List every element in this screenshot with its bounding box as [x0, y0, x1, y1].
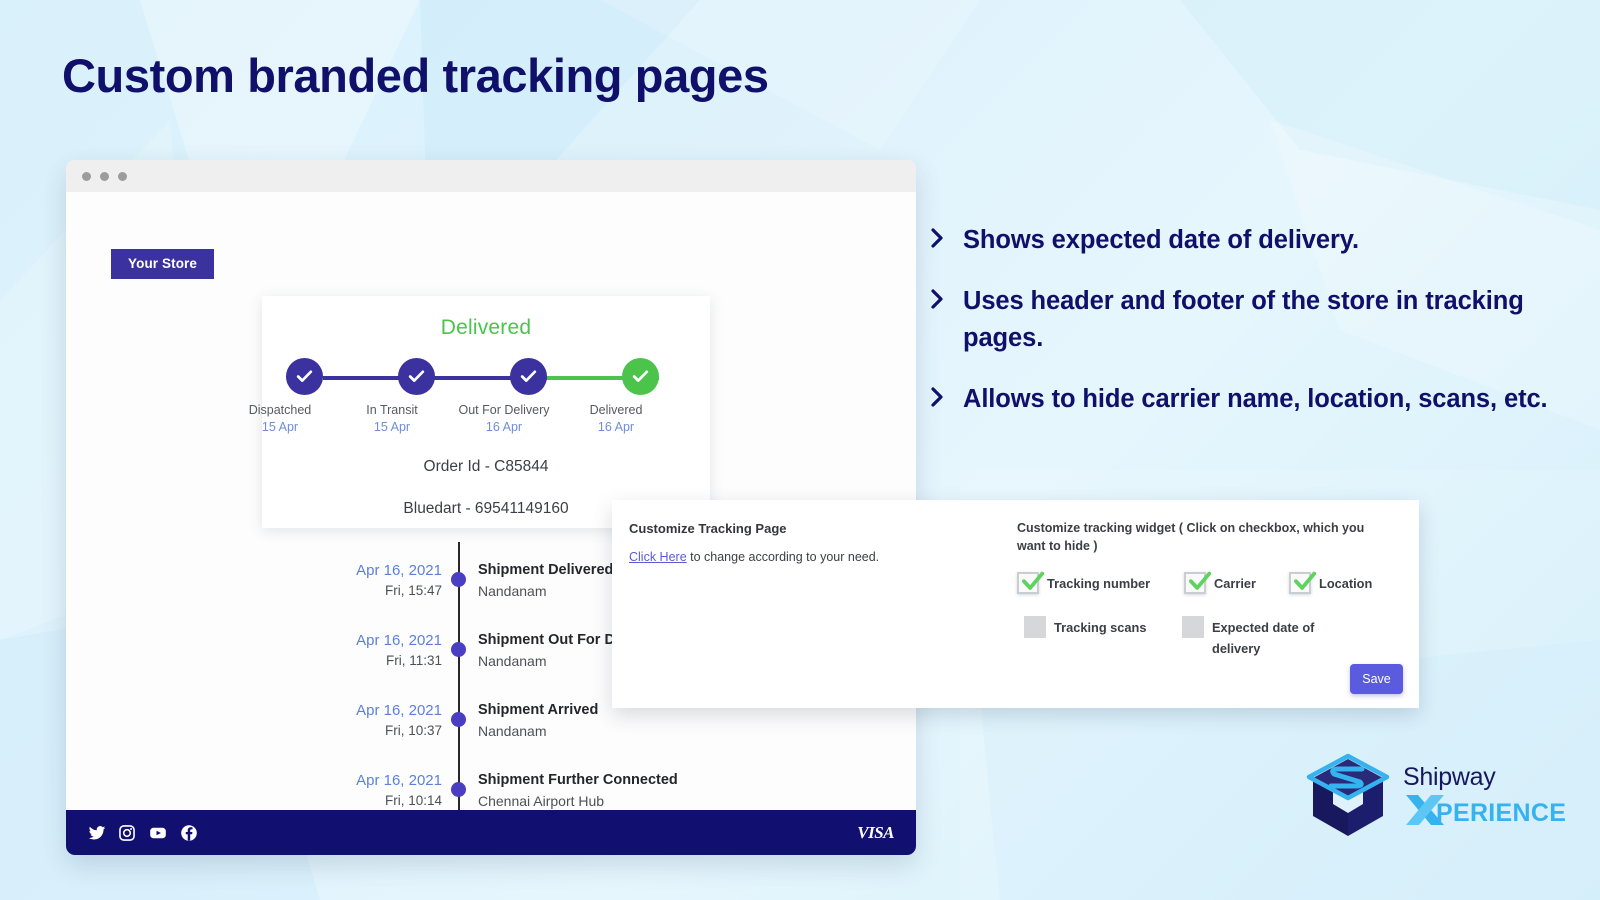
bullet-text: Shows expected date of delivery. — [963, 222, 1359, 259]
timeline-date: Apr 16, 2021 — [274, 700, 442, 721]
bullet-text: Allows to hide carrier name, location, s… — [963, 381, 1548, 418]
bullet-item: Shows expected date of delivery. — [930, 222, 1550, 259]
timeline-dot-icon — [451, 642, 466, 657]
shipway-logo: Shipway PERIENCE — [1305, 752, 1566, 845]
checkbox-box[interactable] — [1184, 572, 1206, 594]
browser-titlebar — [66, 160, 916, 192]
checkbox-box[interactable] — [1024, 616, 1046, 638]
timeline-row: Apr 16, 2021 Fri, 10:37 Shipment Arrived… — [66, 700, 916, 756]
timeline-date: Apr 16, 2021 — [274, 770, 442, 791]
checkbox-label: Tracking number — [1047, 572, 1150, 594]
checkbox-expected-date[interactable]: Expected date of delivery — [1182, 616, 1316, 659]
customize-page-title: Customize Tracking Page — [629, 519, 969, 539]
store-footer-bar: VISA — [66, 810, 916, 855]
stepper-label-out-for-delivery: Out For Delivery 16 Apr — [444, 402, 564, 436]
checkbox-location[interactable]: Location — [1289, 572, 1372, 594]
checkbox-row-1: Tracking number Carrier — [1017, 572, 1407, 600]
stepper-label-name: Dispatched — [220, 402, 340, 419]
stepper-label-dispatched: Dispatched 15 Apr — [220, 402, 340, 436]
checkbox-carrier[interactable]: Carrier — [1184, 572, 1256, 594]
bullet-text: Uses header and footer of the store in t… — [963, 283, 1550, 357]
stepper-node-out-for-delivery[interactable] — [510, 358, 547, 395]
timeline-datetime: Apr 16, 2021 Fri, 10:14 — [274, 770, 442, 811]
stepper-node-delivered[interactable] — [622, 358, 659, 395]
visa-payment-logo: VISA — [857, 823, 894, 843]
checkbox-label: Expected date of delivery — [1212, 616, 1316, 659]
stepper-label-name: In Transit — [332, 402, 452, 419]
chevron-right-icon — [930, 222, 945, 259]
timeline-time: Fri, 10:14 — [274, 791, 442, 811]
chevron-right-icon — [930, 283, 945, 357]
window-dot-minimize[interactable] — [100, 172, 109, 181]
stepper-node-dispatched[interactable] — [286, 358, 323, 395]
customize-page-subtitle-rest: to change according to your need. — [687, 550, 880, 564]
shipment-status-heading: Delivered — [262, 316, 710, 340]
customize-widget-section: Customize tracking widget ( Click on che… — [1017, 519, 1407, 662]
timeline-time: Fri, 15:47 — [274, 581, 442, 601]
youtube-icon[interactable] — [148, 824, 168, 842]
checkbox-box[interactable] — [1182, 616, 1204, 638]
timeline-event-location: Nandanam — [478, 721, 908, 741]
slide-canvas: Custom branded tracking pages Your Store… — [0, 0, 1600, 900]
instagram-icon[interactable] — [118, 824, 136, 842]
shipway-wordmark: Shipway PERIENCE — [1403, 762, 1566, 835]
timeline-time: Fri, 11:31 — [274, 651, 442, 671]
checkbox-label: Carrier — [1214, 572, 1256, 594]
page-title: Custom branded tracking pages — [62, 48, 769, 103]
checkbox-tracking-number[interactable]: Tracking number — [1017, 572, 1150, 594]
stepper-label-in-transit: In Transit 15 Apr — [332, 402, 452, 436]
checkbox-box[interactable] — [1289, 572, 1311, 594]
timeline-event-title: Shipment Further Connected — [478, 770, 908, 791]
progress-stepper — [286, 358, 686, 396]
xperience-row: PERIENCE — [1403, 790, 1566, 835]
check-icon — [1020, 568, 1046, 594]
timeline-time: Fri, 10:37 — [274, 721, 442, 741]
customize-widget-title: Customize tracking widget ( Click on che… — [1017, 519, 1382, 555]
customize-page-subtitle: Click Here to change according to your n… — [629, 548, 969, 566]
timeline-date: Apr 16, 2021 — [274, 560, 442, 581]
checkbox-tracking-scans[interactable]: Tracking scans — [1024, 616, 1146, 638]
check-icon — [1187, 568, 1213, 594]
stepper-node-in-transit[interactable] — [398, 358, 435, 395]
checkbox-label: Location — [1319, 572, 1372, 594]
tracking-status-card: Delivered — [262, 296, 710, 528]
facebook-icon[interactable] — [180, 824, 198, 842]
timeline-dot-icon — [451, 572, 466, 587]
bullet-item: Uses header and footer of the store in t… — [930, 283, 1550, 357]
checkbox-box[interactable] — [1017, 572, 1039, 594]
window-dot-maximize[interactable] — [118, 172, 127, 181]
checkbox-row-2: Tracking scans Expected date of delivery — [1017, 616, 1407, 662]
timeline-dot-icon — [451, 712, 466, 727]
shipway-name: Shipway — [1403, 762, 1566, 792]
twitter-icon[interactable] — [88, 824, 106, 842]
stepper-label-name: Out For Delivery — [444, 402, 564, 419]
stepper-label-delivered: Delivered 16 Apr — [556, 402, 676, 436]
stepper-label-date: 16 Apr — [444, 419, 564, 436]
bullet-item: Allows to hide carrier name, location, s… — [930, 381, 1550, 418]
check-icon — [1292, 568, 1318, 594]
timeline-dot-icon — [451, 782, 466, 797]
stepper-labels: Dispatched 15 Apr In Transit 15 Apr Out … — [262, 402, 710, 444]
timeline-datetime: Apr 16, 2021 Fri, 15:47 — [274, 560, 442, 601]
timeline-event-location: Chennai Airport Hub — [478, 791, 908, 811]
timeline-datetime: Apr 16, 2021 Fri, 11:31 — [274, 630, 442, 671]
xperience-text: PERIENCE — [1436, 798, 1566, 828]
store-logo-badge[interactable]: Your Store — [111, 249, 214, 279]
stepper-label-name: Delivered — [556, 402, 676, 419]
window-dot-close[interactable] — [82, 172, 91, 181]
click-here-link[interactable]: Click Here — [629, 550, 687, 564]
stepper-label-date: 15 Apr — [332, 419, 452, 436]
feature-bullet-list: Shows expected date of delivery. Uses he… — [930, 222, 1550, 442]
shipway-cube-icon — [1305, 752, 1391, 845]
customize-tracking-panel: Customize Tracking Page Click Here to ch… — [612, 500, 1419, 708]
timeline-date: Apr 16, 2021 — [274, 630, 442, 651]
timeline-datetime: Apr 16, 2021 Fri, 10:37 — [274, 700, 442, 741]
save-button[interactable]: Save — [1350, 664, 1403, 694]
stepper-label-date: 16 Apr — [556, 419, 676, 436]
timeline-event: Shipment Further Connected Chennai Airpo… — [478, 770, 908, 811]
checkbox-label: Tracking scans — [1054, 616, 1146, 638]
social-links — [88, 824, 198, 842]
order-id-text: Order Id - C85844 — [262, 458, 710, 476]
customize-page-section: Customize Tracking Page Click Here to ch… — [629, 519, 969, 566]
stepper-label-date: 15 Apr — [220, 419, 340, 436]
chevron-right-icon — [930, 381, 945, 418]
